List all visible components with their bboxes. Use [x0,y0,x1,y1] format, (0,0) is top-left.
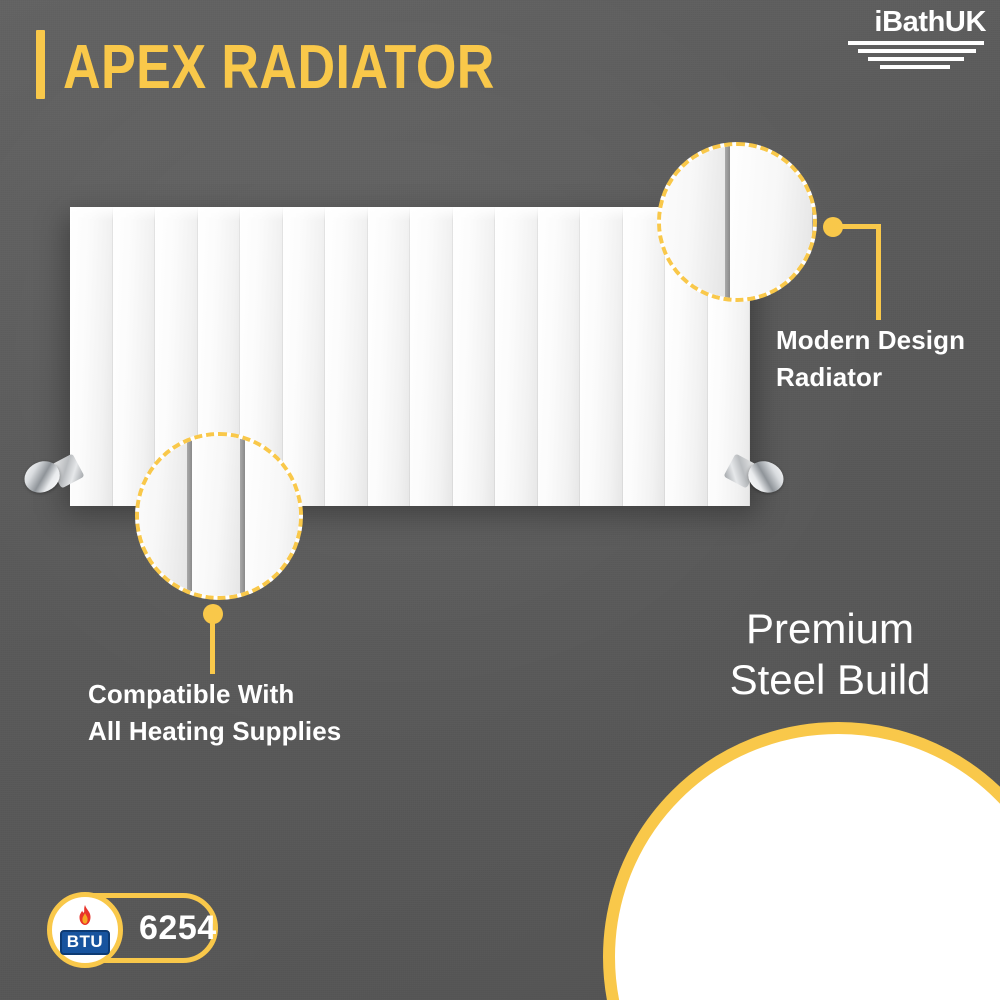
btu-label: BTU [60,930,110,954]
zoom-fin [730,142,812,302]
callout-modern-design: Modern Design Radiator [776,322,965,396]
callout-compatible-supplies: Compatible With All Heating Supplies [88,676,341,750]
brand-logo: iBathUK [846,8,986,69]
logo-bar-3 [868,57,964,61]
zoom-fin [245,432,303,600]
zoom-fin [192,432,240,600]
radiator-fin [453,207,496,506]
btu-badge: BTU 6254 [48,893,218,963]
magnifier-top-content [657,142,817,302]
magnifier-top [657,142,817,302]
btu-icon-circle: BTU [47,892,123,968]
feature-line-1: Premium [660,603,1000,654]
callout-line-1: Modern Design [776,322,965,359]
logo-bar-2 [858,49,976,53]
magnifier-bottom [135,432,303,600]
logo-bar-4 [880,65,950,69]
radiator-fin [368,207,411,506]
radiator-fin [410,207,453,506]
radiator-fin [580,207,623,506]
callout-leader-v-modern [876,224,881,320]
title-accent-bar [36,30,45,99]
callout-line-2: Radiator [776,359,965,396]
headline-text: APEX RADIATOR [63,30,495,99]
radiator-fin [623,207,666,506]
magnifier-bottom-content [135,432,303,600]
flame-icon [74,905,96,931]
left-valve [24,452,82,498]
callout-leader-h-modern [841,224,881,229]
page-title: APEX RADIATOR [36,30,577,99]
feature-line-2: Steel Build [660,654,1000,705]
callout-line-1: Compatible With [88,676,341,713]
right-valve [726,452,784,498]
zoom-fin [135,432,187,600]
feature-text: Premium Steel Build [660,603,1000,705]
radiator-fin [538,207,581,506]
product-banner: APEX RADIATOR iBathUK [0,0,1000,1000]
btu-value: 6254 [139,909,217,948]
radiator-fin [325,207,368,506]
callout-leader-v-compat [210,620,215,674]
zoom-fin [657,142,725,302]
logo-wordmark: iBathUK [846,8,986,37]
callout-line-2: All Heating Supplies [88,713,341,750]
radiator-fin [495,207,538,506]
callout-dot-modern [823,217,843,237]
logo-bar-1 [848,41,984,45]
